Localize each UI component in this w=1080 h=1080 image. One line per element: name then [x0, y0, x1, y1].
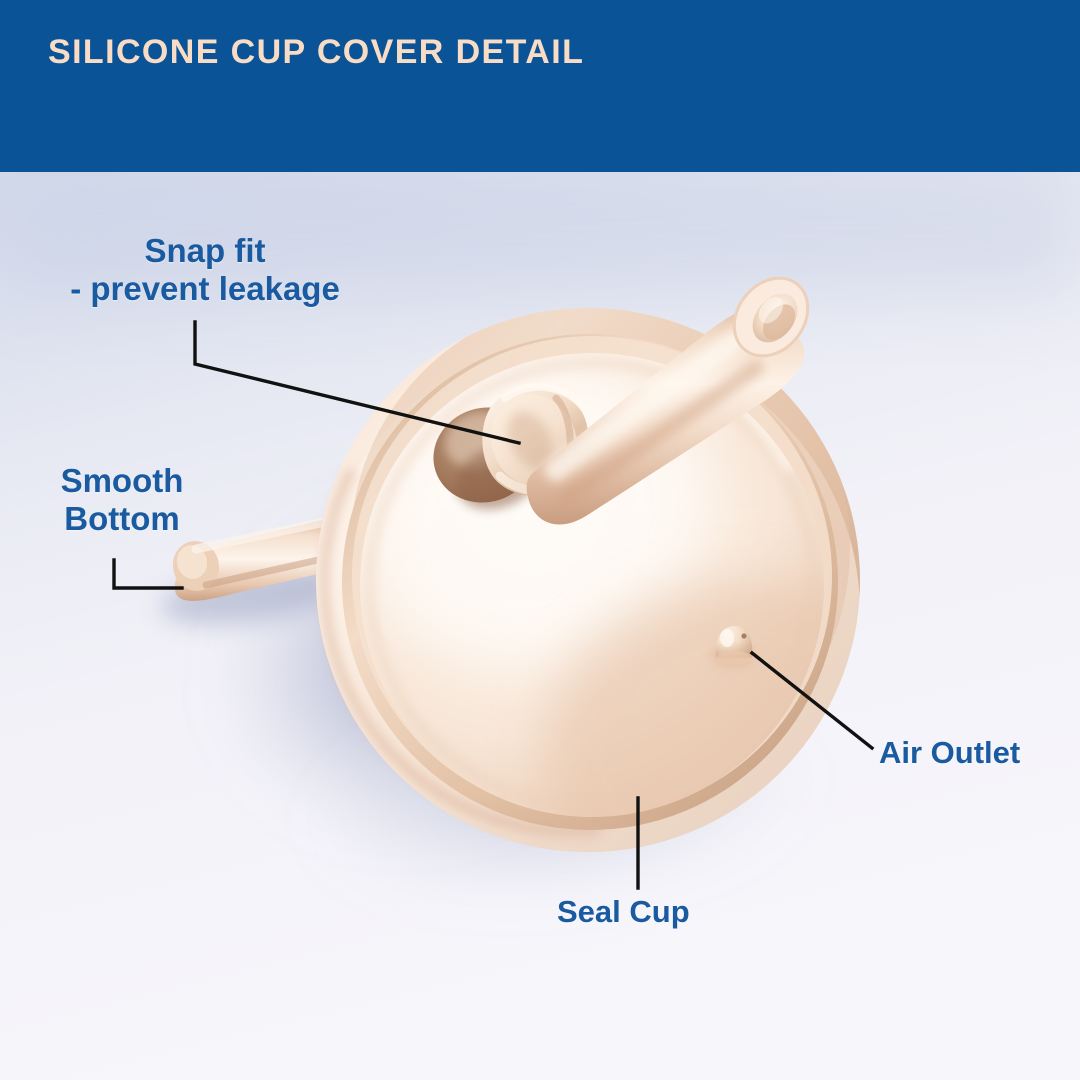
infographic-page: SILICONE CUP COVER DETAIL [0, 0, 1080, 1080]
callout-label-smooth-bottom: Smooth Bottom [42, 462, 202, 539]
callout-label-air-outlet: Air Outlet [879, 735, 1020, 771]
air-hole [741, 633, 746, 638]
page-title: SILICONE CUP COVER DETAIL [48, 33, 584, 72]
callout-snap-fit-line2: - prevent leakage [40, 270, 370, 308]
callout-smooth-bottom-line2: Bottom [42, 500, 202, 538]
header-banner: SILICONE CUP COVER DETAIL [0, 0, 1080, 172]
callout-smooth-bottom-line1: Smooth [61, 462, 184, 499]
callout-snap-fit-line1: Snap fit [145, 232, 266, 269]
callout-label-seal-cup: Seal Cup [557, 894, 690, 930]
callout-label-snap-fit: Snap fit - prevent leakage [40, 232, 370, 309]
